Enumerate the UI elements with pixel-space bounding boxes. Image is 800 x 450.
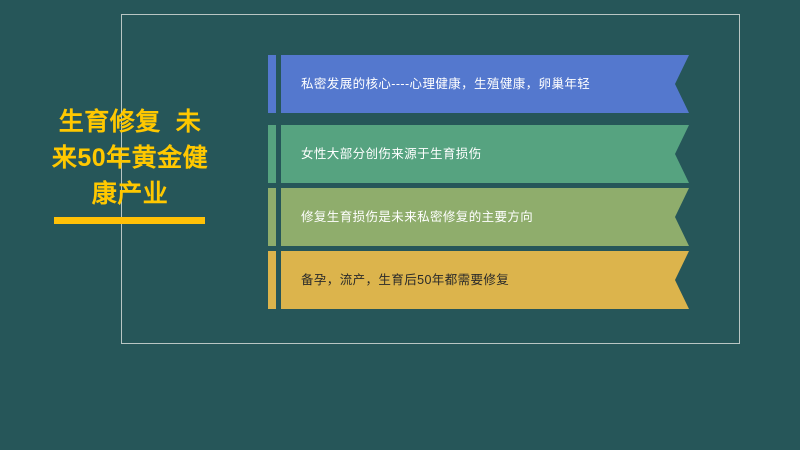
ribbon-banner-4: 备孕，流产，生育后50年都需要修复 [268, 251, 689, 309]
ribbon-label-4: 备孕，流产，生育后50年都需要修复 [301, 272, 509, 288]
ribbon-accent-1 [268, 55, 276, 113]
ribbon-body-4: 备孕，流产，生育后50年都需要修复 [281, 251, 689, 309]
ribbon-accent-4 [268, 251, 276, 309]
ribbon-banner-3: 修复生育损伤是未来私密修复的主要方向 [268, 188, 689, 246]
title-line-3: 康产业 [18, 176, 242, 212]
ribbon-gap-2 [276, 125, 281, 183]
slide-canvas: 生育修复 未 来50年黄金健 康产业 私密发展的核心----心理健康，生殖健康，… [0, 0, 800, 450]
title-line-1: 生育修复 未 [18, 104, 242, 140]
ribbon-gap-3 [276, 188, 281, 246]
ribbon-banner-1: 私密发展的核心----心理健康，生殖健康，卵巢年轻 [268, 55, 689, 113]
ribbon-label-1: 私密发展的核心----心理健康，生殖健康，卵巢年轻 [301, 76, 590, 92]
ribbon-banner-2: 女性大部分创伤来源于生育损伤 [268, 125, 689, 183]
title-underline [54, 217, 205, 224]
ribbon-label-3: 修复生育损伤是未来私密修复的主要方向 [301, 209, 533, 225]
ribbon-body-1: 私密发展的核心----心理健康，生殖健康，卵巢年轻 [281, 55, 689, 113]
ribbon-accent-3 [268, 188, 276, 246]
title-line-2: 来50年黄金健 [18, 140, 242, 176]
ribbon-gap-4 [276, 251, 281, 309]
ribbon-accent-2 [268, 125, 276, 183]
ribbon-label-2: 女性大部分创伤来源于生育损伤 [301, 146, 482, 162]
ribbon-gap-1 [276, 55, 281, 113]
page-title: 生育修复 未 来50年黄金健 康产业 [18, 104, 242, 212]
ribbon-body-3: 修复生育损伤是未来私密修复的主要方向 [281, 188, 689, 246]
ribbon-body-2: 女性大部分创伤来源于生育损伤 [281, 125, 689, 183]
